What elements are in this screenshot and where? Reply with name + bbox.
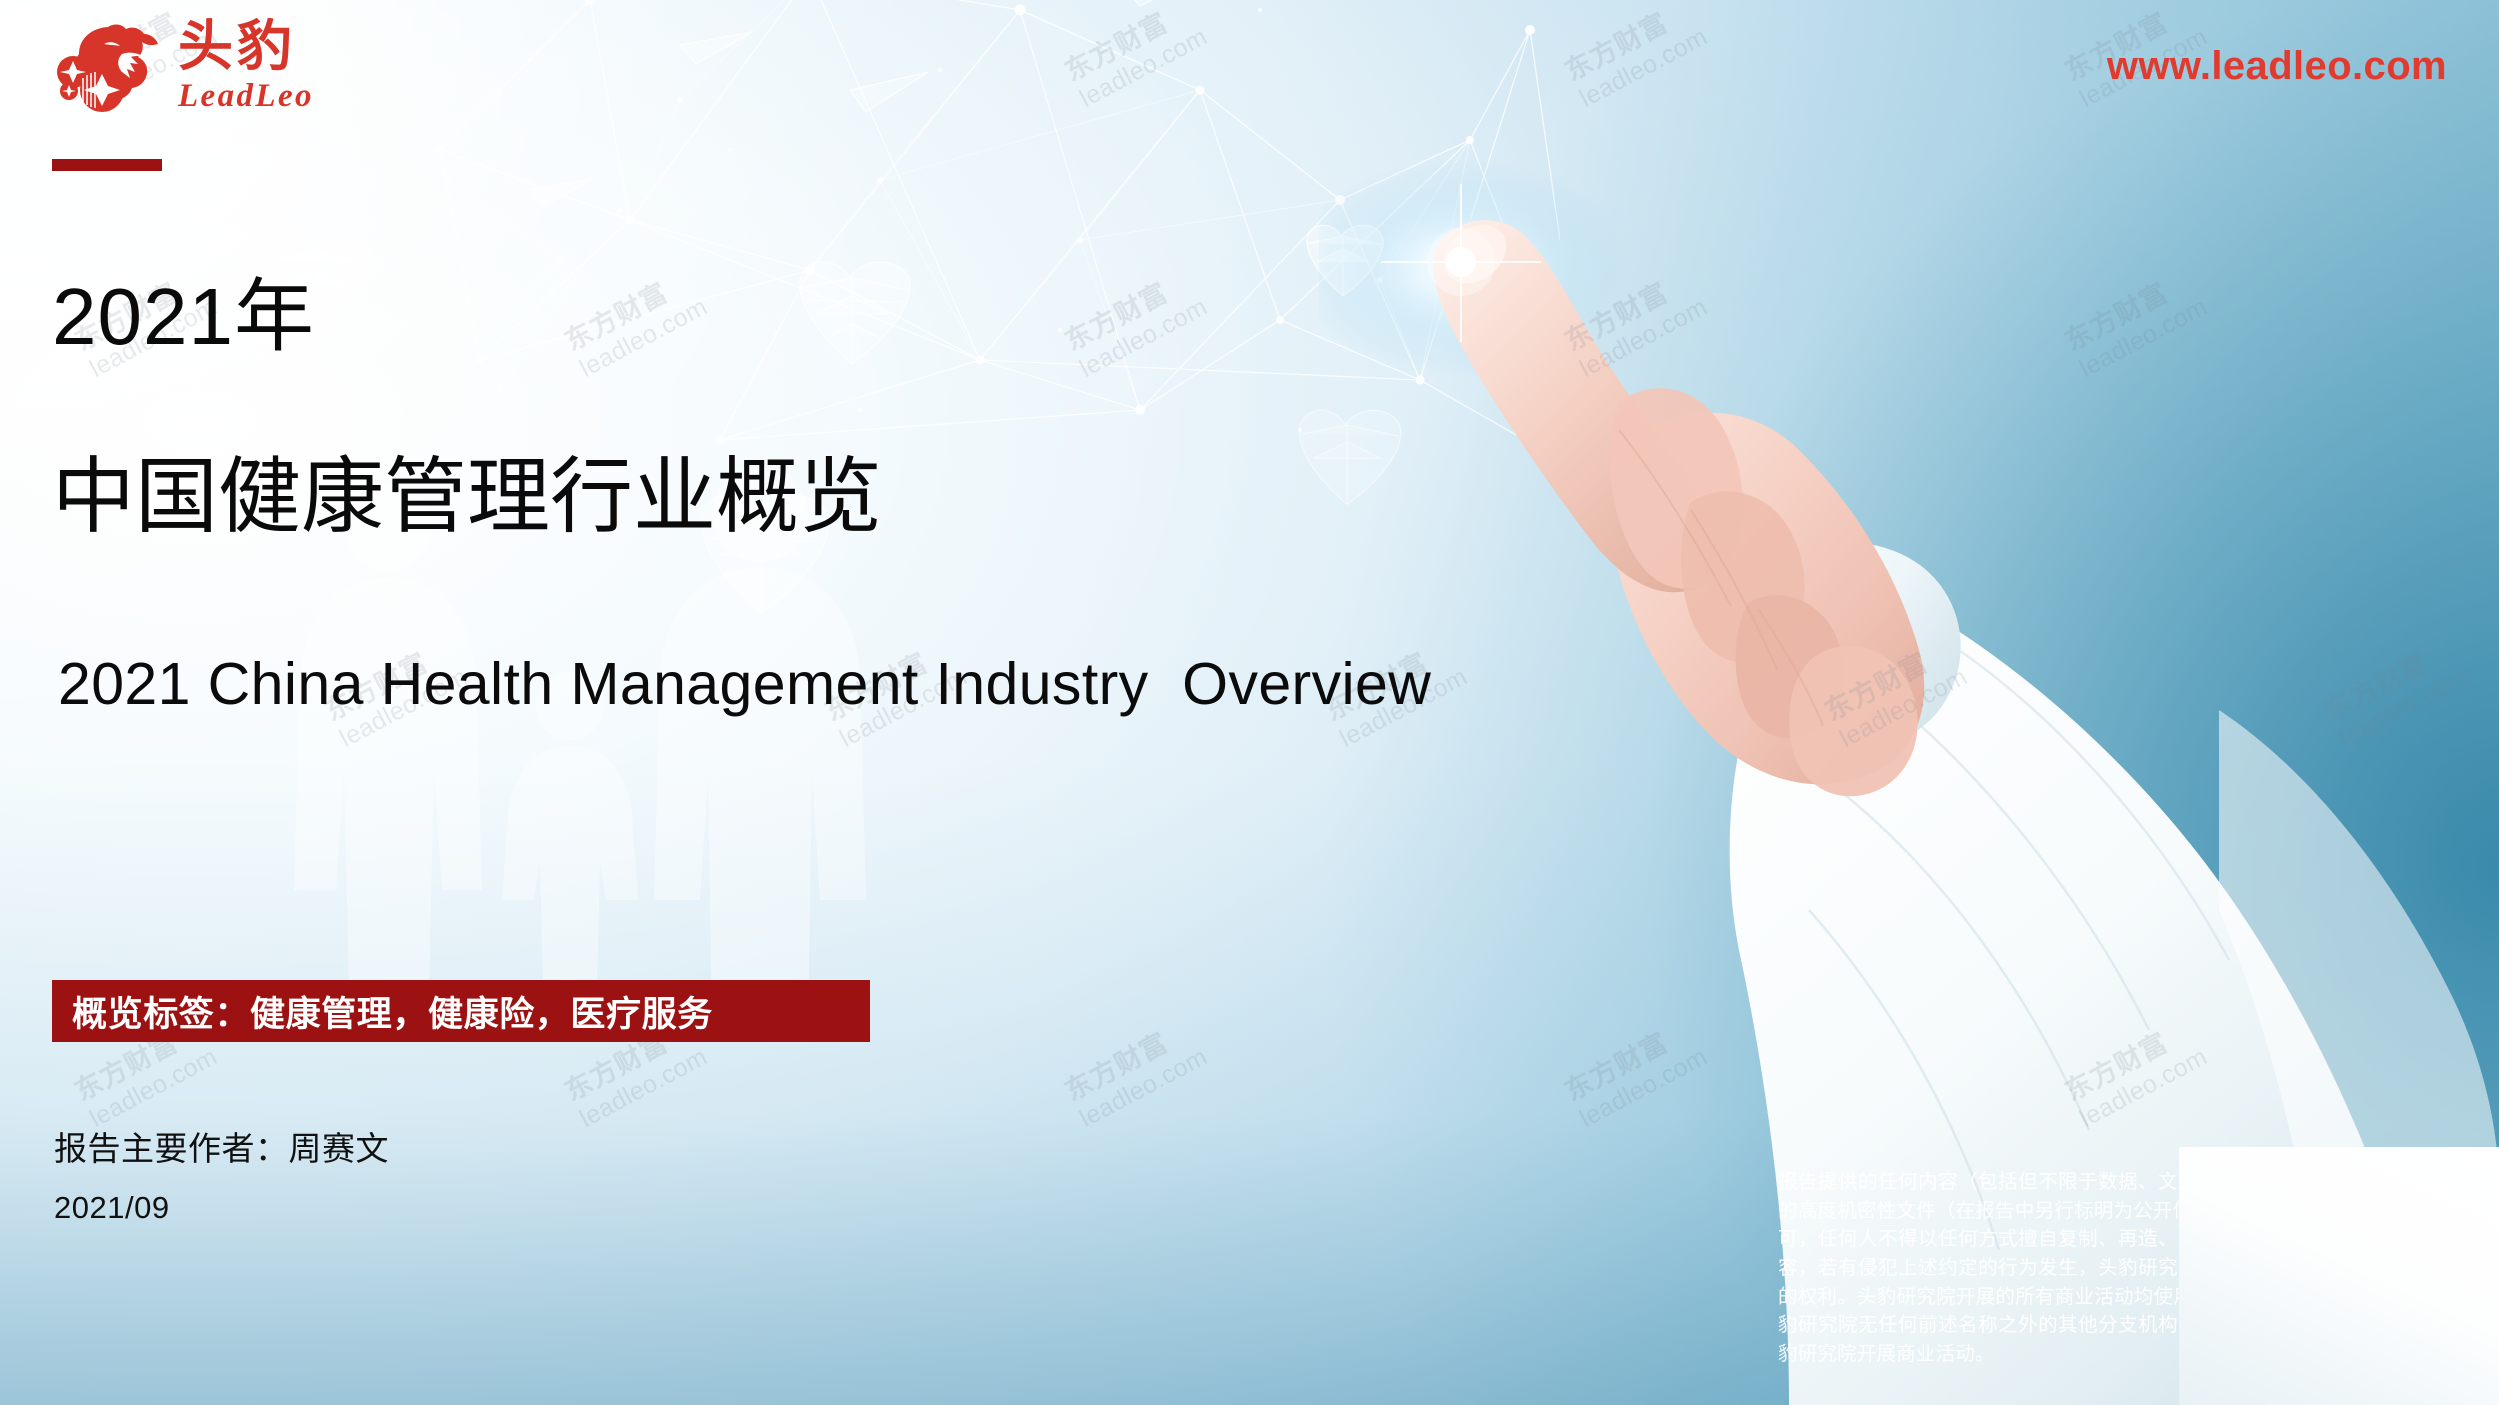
watermark-en: leadleo.com xyxy=(575,1042,713,1134)
watermark-cn: 东方财富 xyxy=(1060,1014,1199,1108)
watermark-en: leadleo.com xyxy=(1835,662,1973,754)
overview-tags-label: 概览标签：健康管理，健康险，医疗服务 xyxy=(52,986,713,1037)
logo-english-name: LeadLeo xyxy=(178,78,364,115)
page-title: 2021年 中国健康管理行业概览 xyxy=(52,188,882,627)
watermark-en: leadleo.com xyxy=(2335,662,2473,754)
watermark-cn: 东方财富 xyxy=(2320,634,2459,728)
watermark-en: leadleo.com xyxy=(1075,1042,1213,1134)
author-block: 报告主要作者：周赛文 2021/09 xyxy=(54,1122,389,1226)
watermark-en: leadleo.com xyxy=(1575,1042,1713,1134)
leopard-head-logo-icon xyxy=(52,20,164,112)
legal-disclaimer: 报告提供的任何内容（包括但不限于数据、文字、图表、图像等）均系头豹研究院独有的高… xyxy=(1778,1168,2499,1369)
heart-polygon-icon xyxy=(1290,390,1410,510)
leadleo-logo[interactable]: 头豹 LeadLeo xyxy=(52,16,382,116)
slide-root: 东方财富leadleo.com 东方财富leadleo.com 东方财富lead… xyxy=(0,0,2499,1405)
watermark-en: leadleo.com xyxy=(1075,22,1213,114)
overview-tags-banner: 概览标签：健康管理，健康险，医疗服务 xyxy=(52,980,870,1042)
watermark-cn: 东方财富 xyxy=(1060,0,1199,88)
title-line-year: 2021年 xyxy=(52,275,882,360)
watermark-en: leadleo.com xyxy=(2075,1042,2213,1134)
watermark-en: leadleo.com xyxy=(1575,22,1713,114)
watermark-en: leadleo.com xyxy=(1575,292,1713,384)
heart-polygon-icon-glow xyxy=(1300,210,1390,300)
watermark-en: leadleo.com xyxy=(85,1042,223,1134)
watermark-cn: 东方财富 xyxy=(1560,0,1699,88)
title-accent-bar xyxy=(52,159,162,171)
watermark-en: leadleo.com xyxy=(2075,292,2213,384)
logo-wordmark: 头豹 LeadLeo xyxy=(178,18,364,115)
report-date: 2021/09 xyxy=(54,1190,389,1226)
logo-chinese-name: 头豹 xyxy=(178,18,364,76)
page-subtitle-english: 2021 China Health Management Industry Ov… xyxy=(58,650,1431,718)
watermark-cn: 东方财富 xyxy=(2060,264,2199,358)
title-line-main: 中国健康管理行业概览 xyxy=(52,453,882,541)
watermark-cn: 东方财富 xyxy=(1820,634,1959,728)
watermark-cn: 东方财富 xyxy=(1560,1014,1699,1108)
website-url[interactable]: www.leadleo.com xyxy=(2107,44,2447,89)
watermark-cn: 东方财富 xyxy=(2060,1014,2199,1108)
svg-text:头豹: 头豹 xyxy=(178,18,296,76)
report-author: 报告主要作者：周赛文 xyxy=(54,1122,389,1170)
watermark-cn: 东方财富 xyxy=(1560,264,1699,358)
watermark-cn: 东方财富 xyxy=(1060,264,1199,358)
watermark-en: leadleo.com xyxy=(1075,292,1213,384)
